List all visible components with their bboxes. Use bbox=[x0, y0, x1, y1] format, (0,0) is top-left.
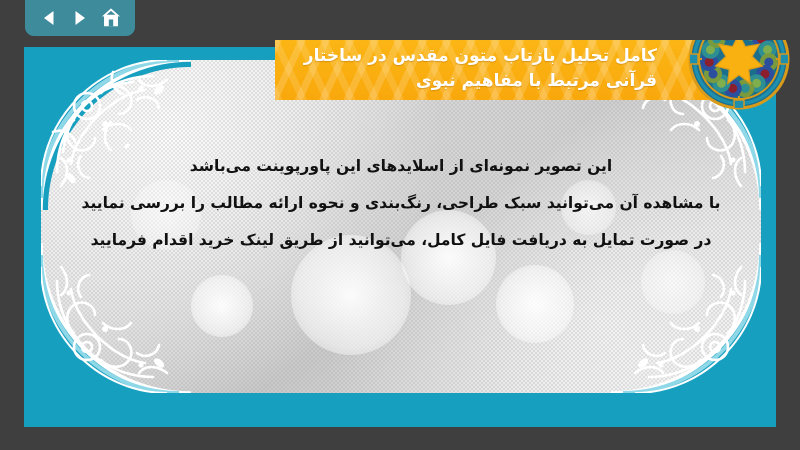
bokeh-circle bbox=[191, 275, 253, 337]
next-slide-button[interactable] bbox=[67, 5, 93, 31]
previous-slide-button[interactable] bbox=[36, 5, 62, 31]
slide-frame: این تصویر نمونه‌ای از اسلایدهای این پاور… bbox=[24, 47, 776, 427]
slide-title-line: کامل تحلیل بازتاب متون مقدس در ساختار bbox=[304, 44, 657, 69]
bokeh-circle bbox=[496, 265, 574, 343]
body-line: با مشاهده آن می‌توانید سبک طراحی، رنگ‌بن… bbox=[81, 185, 721, 222]
corner-ornament-bottom-left bbox=[41, 243, 191, 393]
slide-title-banner: کامل تحلیل بازتاب متون مقدس در ساختار قر… bbox=[275, 38, 735, 100]
triangle-left-icon bbox=[39, 8, 59, 28]
slide-viewer: این تصویر نمونه‌ای از اسلایدهای این پاور… bbox=[0, 0, 800, 450]
body-line: در صورت تمایل به دریافت فایل کامل، می‌تو… bbox=[81, 222, 721, 259]
navigation-bar bbox=[0, 0, 800, 40]
slide-title-line: قرآنی مرتبط با مفاهیم نبوی bbox=[416, 69, 657, 94]
navigation-button-group bbox=[25, 0, 135, 36]
home-button[interactable] bbox=[98, 5, 124, 31]
bokeh-circle bbox=[641, 250, 705, 314]
corner-ornament-bottom-right bbox=[611, 243, 761, 393]
body-line: این تصویر نمونه‌ای از اسلایدهای این پاور… bbox=[81, 148, 721, 185]
slide-content-area: این تصویر نمونه‌ای از اسلایدهای این پاور… bbox=[41, 60, 761, 393]
triangle-right-icon bbox=[70, 8, 90, 28]
slide-body-text: این تصویر نمونه‌ای از اسلایدهای این پاور… bbox=[81, 148, 721, 259]
home-icon bbox=[100, 7, 122, 29]
